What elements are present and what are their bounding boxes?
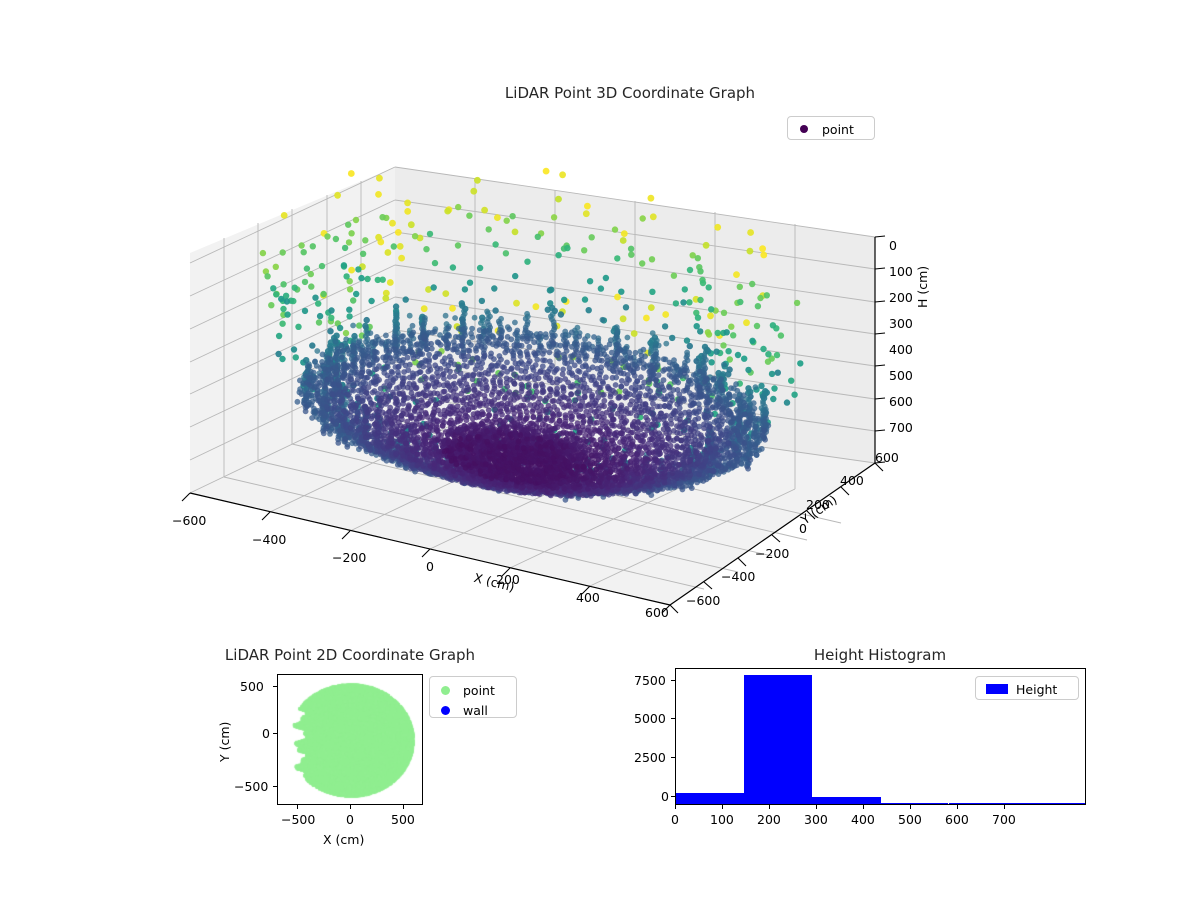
- legend-item-height[interactable]: Height: [982, 679, 1072, 699]
- ztick-label-3d: 500: [889, 368, 913, 383]
- ytick-mark-hist: [671, 718, 675, 719]
- ytick-label-hist: 0: [661, 789, 669, 804]
- xtick-mark-2d: [403, 805, 404, 809]
- xtick-label-hist: 500: [898, 812, 922, 827]
- histogram-bar: [881, 803, 949, 805]
- xtick-label-2d: −500: [281, 812, 315, 827]
- ztick-label-3d: 100: [889, 264, 913, 279]
- matplotlib-figure: LiDAR Point 3D Coordinate Graph: [0, 0, 1200, 900]
- ztick-label-3d: 300: [889, 316, 913, 331]
- histogram-bar: [744, 675, 812, 805]
- ytick-mark-2d: [273, 686, 277, 687]
- histogram-bar: [812, 797, 880, 804]
- y-axis-label-2d: Y (cm): [217, 722, 232, 762]
- xtick-mark-hist: [1004, 805, 1005, 809]
- x-axis-label-2d: X (cm): [323, 832, 364, 847]
- xtick-label-3d: −400: [252, 532, 286, 547]
- xtick-label-hist: 100: [710, 812, 734, 827]
- xtick-mark-hist: [675, 805, 676, 809]
- legend-label: Height: [1016, 682, 1057, 697]
- legend-3d[interactable]: point: [787, 116, 875, 140]
- histogram-bar: [1017, 803, 1085, 805]
- legend-2d[interactable]: point wall: [429, 676, 517, 718]
- ytick-label-2d: 0: [262, 726, 270, 741]
- ytick-label-3d: 600: [875, 450, 899, 465]
- xtick-label-3d: −200: [332, 550, 366, 565]
- ztick-label-3d: 200: [889, 290, 913, 305]
- point-marker-icon: [441, 686, 450, 695]
- height-bar-icon: [986, 684, 1008, 694]
- ztick-label-3d: 700: [889, 420, 913, 435]
- z-axis-label-3d: H (cm): [915, 266, 930, 308]
- ytick-mark-2d: [273, 733, 277, 734]
- chart-hist-title: Height Histogram: [680, 646, 1080, 664]
- xtick-label-3d: −600: [172, 513, 206, 528]
- xtick-label-2d: 500: [391, 812, 415, 827]
- axes-3d[interactable]: [150, 95, 910, 635]
- xtick-label-hist: 300: [804, 812, 828, 827]
- xtick-label-hist: 0: [671, 812, 679, 827]
- axes-2d[interactable]: [277, 674, 423, 805]
- ytick-label-hist: 5000: [634, 711, 666, 726]
- xtick-mark-hist: [863, 805, 864, 809]
- xtick-mark-hist: [769, 805, 770, 809]
- ytick-mark-hist: [671, 680, 675, 681]
- ytick-label-3d: 400: [840, 473, 864, 488]
- xtick-label-3d: 600: [645, 605, 669, 620]
- ytick-label-3d: −600: [686, 593, 720, 608]
- ytick-label-hist: 7500: [634, 673, 666, 688]
- xtick-label-hist: 200: [757, 812, 781, 827]
- xtick-mark-hist: [816, 805, 817, 809]
- wall-marker-icon: [441, 706, 450, 715]
- scatter-2d-canvas: [278, 675, 423, 805]
- xtick-mark-hist: [957, 805, 958, 809]
- legend-label: wall: [463, 703, 488, 718]
- ytick-label-2d: −500: [234, 779, 268, 794]
- ytick-mark-hist: [671, 796, 675, 797]
- xtick-mark-hist: [722, 805, 723, 809]
- xtick-label-2d: 0: [346, 812, 354, 827]
- histogram-bar: [949, 803, 1017, 805]
- xtick-mark-2d: [297, 805, 298, 809]
- legend-item-point[interactable]: point: [794, 119, 868, 139]
- legend-item-point[interactable]: point: [435, 680, 511, 700]
- ytick-label-3d: −400: [721, 569, 755, 584]
- chart-2d-title: LiDAR Point 2D Coordinate Graph: [180, 646, 520, 664]
- xtick-label-hist: 400: [851, 812, 875, 827]
- axes-3d-canvas: [150, 95, 910, 635]
- ytick-mark-hist: [671, 757, 675, 758]
- ztick-label-3d: 600: [889, 394, 913, 409]
- xtick-mark-hist: [910, 805, 911, 809]
- ytick-label-3d: −200: [755, 546, 789, 561]
- xtick-mark-2d: [350, 805, 351, 809]
- xtick-label-hist: 600: [945, 812, 969, 827]
- ztick-label-3d: 0: [889, 238, 897, 253]
- ytick-label-hist: 2500: [634, 750, 666, 765]
- histogram-bar: [676, 793, 744, 804]
- point-marker-icon: [800, 125, 808, 133]
- legend-label: point: [463, 683, 495, 698]
- ytick-mark-2d: [273, 786, 277, 787]
- legend-item-wall[interactable]: wall: [435, 700, 511, 720]
- xtick-label-3d: 400: [576, 590, 600, 605]
- xtick-label-3d: 0: [426, 559, 434, 574]
- zticks-3d: [875, 236, 885, 463]
- ztick-label-3d: 400: [889, 342, 913, 357]
- legend-label: point: [822, 122, 854, 137]
- xtick-label-hist: 700: [992, 812, 1016, 827]
- ytick-label-2d: 500: [240, 679, 264, 694]
- legend-histogram[interactable]: Height: [975, 676, 1079, 700]
